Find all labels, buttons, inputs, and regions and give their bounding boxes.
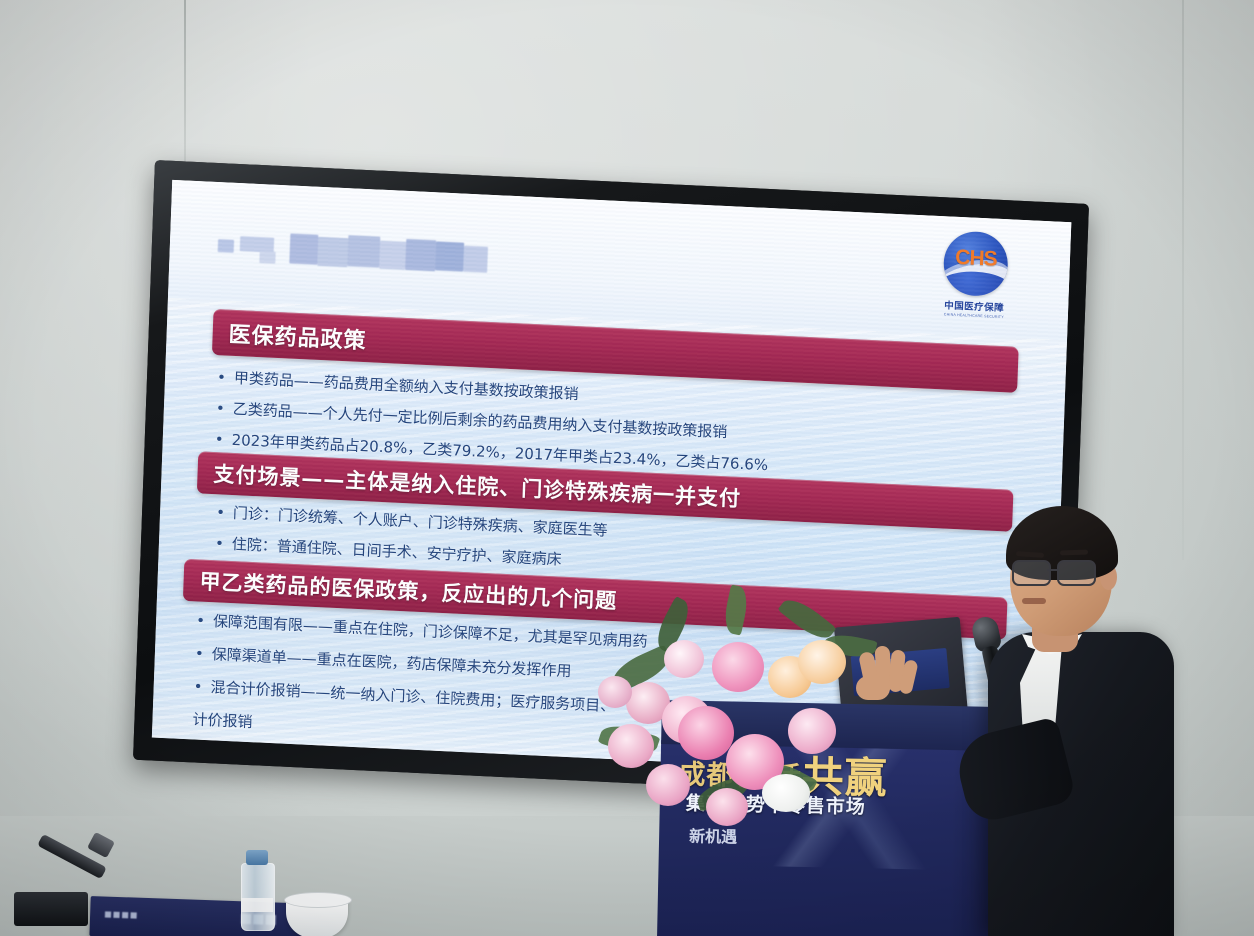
chs-logo-mark-icon: CHS [943,230,1009,297]
speaker-hand [856,642,918,702]
conference-photo-scene: CHS 中国医疗保障 CHINA HEALTHCARE SECURITY 医保药… [0,0,1254,936]
bottle-body [241,863,275,931]
speaker-mouth [1022,598,1046,604]
wall-seam-right [1182,0,1184,560]
flower [678,706,734,760]
wall-seam-left [184,0,186,175]
flower [712,642,764,692]
flower [646,764,690,806]
chs-logo-letters: CHS [944,246,1009,270]
head-table: ■■■■ ■■■ [0,872,470,936]
speaker-person [988,492,1188,936]
flower [706,788,748,826]
speaker-glasses-icon [1012,560,1102,584]
flower [598,676,632,708]
flower [798,640,846,684]
speaker-eyebrow-right [1060,550,1088,556]
flower [664,640,704,678]
name-plate-org: ■■■■ [104,910,139,920]
flower [788,708,836,754]
chs-logo: CHS 中国医疗保障 CHINA HEALTHCARE SECURITY [932,230,1019,326]
water-bottle [240,850,274,928]
tea-cup [286,898,348,936]
bottle-label [241,898,273,912]
microphone-base [14,892,88,926]
flower-arrangement [592,596,922,836]
flower [608,724,654,768]
bottle-cap [246,850,268,865]
flower [762,774,810,812]
